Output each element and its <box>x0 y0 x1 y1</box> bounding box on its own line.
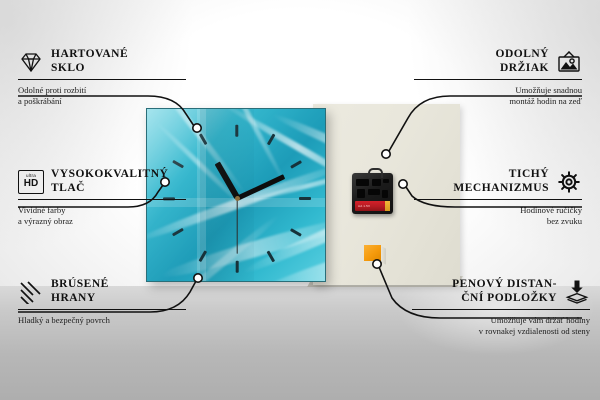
feature-header: ultra HD VYSOKOKVALITNÝ TLAČ <box>18 168 186 195</box>
feature-description: Vividné farby a výrazný obraz <box>18 205 186 227</box>
feature-header: ODOLNÝ DRŽIAK <box>414 48 582 75</box>
foam-pad-side <box>381 246 386 265</box>
feature-foam-spacers: PENOVÝ DISTAN- ČNÍ PODLOŽKY Umožňuje vám… <box>412 278 590 337</box>
feature-title: HARTOVANÉ SKLO <box>51 48 128 75</box>
feature-description: Hladký a bezpečný povrch <box>18 315 186 326</box>
feature-polished-edges: BRÚSENÉ HRANY Hladký a bezpečný povrch <box>18 278 186 326</box>
mechanism-slot-e <box>368 189 380 195</box>
feature-divider <box>414 79 582 80</box>
hanging-picture-frame-icon <box>556 49 582 75</box>
infographic-canvas: AA 1.5V <box>0 0 600 400</box>
battery-positive-tip <box>385 201 390 211</box>
feature-description: Odolné proti rozbití a poškrábání <box>18 85 186 107</box>
feature-header: BRÚSENÉ HRANY <box>18 278 186 305</box>
feature-title: ODOLNÝ DRŽIAK <box>496 48 549 75</box>
stacked-pads-arrow-icon <box>564 279 590 305</box>
feature-divider <box>412 309 590 310</box>
feature-divider <box>18 309 186 310</box>
feature-durable-holder: ODOLNÝ DRŽIAK Umožňuje snadnou montáž ho… <box>414 48 582 107</box>
foam-distance-pad <box>364 245 381 261</box>
feature-divider <box>18 199 186 200</box>
ultra-hd-badge-icon: ultra HD <box>18 169 44 195</box>
feature-title: TICHÝ MECHANIZMUS <box>453 168 549 195</box>
mechanism-hanger-hook <box>368 168 383 178</box>
feature-high-quality-print: ultra HD VYSOKOKVALITNÝ TLAČ Vividné far… <box>18 168 186 227</box>
gear-icon <box>556 169 582 195</box>
feature-divider <box>414 199 582 200</box>
feature-title: VYSOKOKVALITNÝ TLAČ <box>51 168 168 195</box>
mechanism-slot-f <box>382 190 388 198</box>
feature-header: PENOVÝ DISTAN- ČNÍ PODLOŽKY <box>412 278 590 305</box>
diamond-icon <box>18 49 44 75</box>
diagonal-lines-icon <box>18 279 44 305</box>
feature-silent-mechanism: TICHÝ MECHANIZMUS Hodinové ručičky bez z… <box>414 168 582 227</box>
mechanism-slot-c <box>383 179 389 183</box>
aa-battery: AA 1.5V <box>355 201 390 211</box>
feature-title: BRÚSENÉ HRANY <box>51 278 109 305</box>
mechanism-slot-b <box>372 179 381 186</box>
feature-description: Hodinové ručičky bez zvuku <box>414 205 582 227</box>
feature-divider <box>18 79 186 80</box>
mechanism-slot-d <box>357 189 365 198</box>
feature-title: PENOVÝ DISTAN- ČNÍ PODLOŽKY <box>452 278 557 305</box>
hd-label: HD <box>24 179 38 189</box>
feature-tempered-glass: HARTOVANÉ SKLO Odolné proti rozbití a po… <box>18 48 186 107</box>
feature-description: Umožňuje snadnou montáž hodin na zeď <box>414 85 582 107</box>
mechanism-slot-a <box>356 179 369 186</box>
battery-label: AA 1.5V <box>358 204 370 208</box>
quartz-clock-mechanism: AA 1.5V <box>352 173 393 214</box>
feature-header: TICHÝ MECHANIZMUS <box>414 168 582 195</box>
feature-description: Umožňuje vám držať hodiny v rovnakej vzd… <box>412 315 590 337</box>
feature-header: HARTOVANÉ SKLO <box>18 48 186 75</box>
